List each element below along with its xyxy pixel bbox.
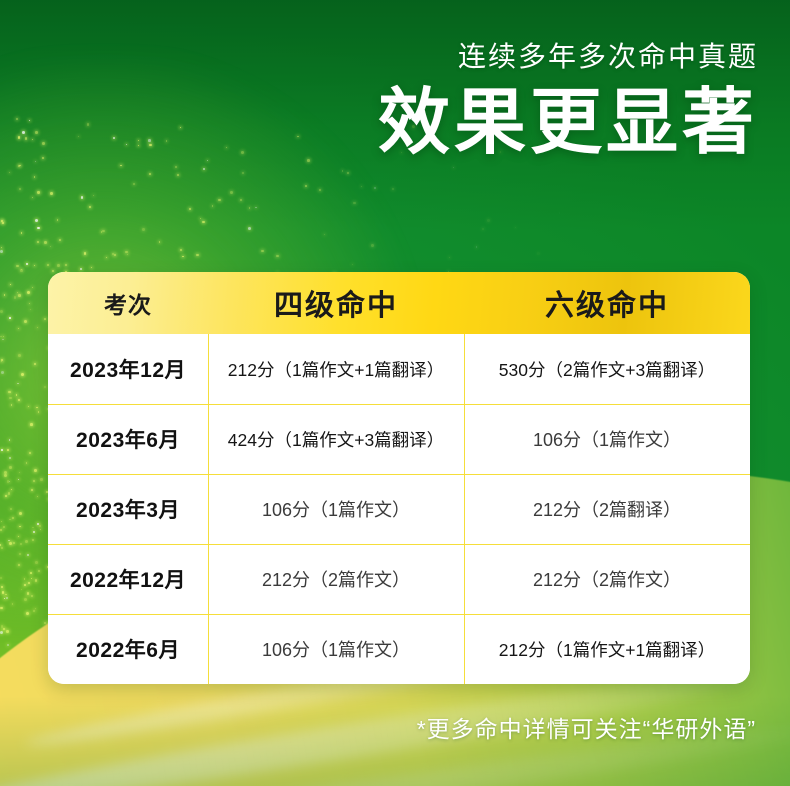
cell-cet6-value: 106分（1篇作文） — [533, 426, 681, 452]
headline-block: 连续多年多次命中真题 效果更显著 — [378, 42, 758, 163]
table-row: 2023年12月212分（1篇作文+1篇翻译）530分（2篇作文+3篇翻译） — [48, 334, 750, 404]
table-row: 2023年6月424分（1篇作文+3篇翻译）106分（1篇作文） — [48, 404, 750, 474]
cell-cet4-value: 212分（2篇作文） — [262, 566, 410, 592]
cell-cet6: 106分（1篇作文） — [464, 404, 750, 474]
hit-rate-table: 考次 四级命中 六级命中 2023年12月212分（1篇作文+1篇翻译）530分… — [48, 272, 750, 684]
table-header-row: 考次 四级命中 六级命中 — [48, 272, 750, 334]
cell-cet6-value: 212分（2篇翻译） — [533, 496, 681, 522]
table-header-cet4: 四级命中 — [208, 272, 464, 334]
cell-cet6: 212分（2篇作文） — [464, 544, 750, 614]
table-row: 2023年3月106分（1篇作文）212分（2篇翻译） — [48, 474, 750, 544]
cell-cet6: 212分（1篇作文+1篇翻译） — [464, 614, 750, 684]
footnote-text: *更多命中详情可关注“华研外语” — [417, 710, 756, 744]
cell-exam: 2023年12月 — [48, 334, 208, 404]
cell-cet4: 424分（1篇作文+3篇翻译） — [208, 404, 464, 474]
table-row: 2022年6月106分（1篇作文）212分（1篇作文+1篇翻译） — [48, 614, 750, 684]
cell-cet4: 106分（1篇作文） — [208, 614, 464, 684]
cell-exam: 2023年6月 — [48, 404, 208, 474]
cell-cet6-value: 212分（1篇作文+1篇翻译） — [499, 637, 715, 662]
table-row: 2022年12月212分（2篇作文）212分（2篇作文） — [48, 544, 750, 614]
table-header-exam: 考次 — [48, 272, 208, 334]
cell-cet4-value: 424分（1篇作文+3篇翻译） — [228, 427, 444, 452]
cell-cet6-value: 530分（2篇作文+3篇翻译） — [499, 357, 715, 382]
cell-cet6-value: 212分（2篇作文） — [533, 566, 681, 592]
table-header-cet6: 六级命中 — [464, 272, 750, 334]
headline-title: 效果更显著 — [378, 83, 758, 164]
cell-cet4: 212分（1篇作文+1篇翻译） — [208, 334, 464, 404]
cell-cet4-value: 212分（1篇作文+1篇翻译） — [228, 357, 444, 382]
cell-exam: 2022年12月 — [48, 544, 208, 614]
table-body: 2023年12月212分（1篇作文+1篇翻译）530分（2篇作文+3篇翻译）20… — [48, 334, 750, 684]
promo-poster: 连续多年多次命中真题 效果更显著 考次 四级命中 六级命中 2023年12月21… — [0, 0, 790, 786]
cell-cet4: 106分（1篇作文） — [208, 474, 464, 544]
cell-exam: 2022年6月 — [48, 614, 208, 684]
cell-cet4: 212分（2篇作文） — [208, 544, 464, 614]
cell-cet6: 530分（2篇作文+3篇翻译） — [464, 334, 750, 404]
cell-cet4-value: 106分（1篇作文） — [262, 636, 410, 662]
cell-cet6: 212分（2篇翻译） — [464, 474, 750, 544]
cell-exam: 2023年3月 — [48, 474, 208, 544]
headline-subtitle: 连续多年多次命中真题 — [378, 42, 758, 73]
cell-cet4-value: 106分（1篇作文） — [262, 496, 410, 522]
